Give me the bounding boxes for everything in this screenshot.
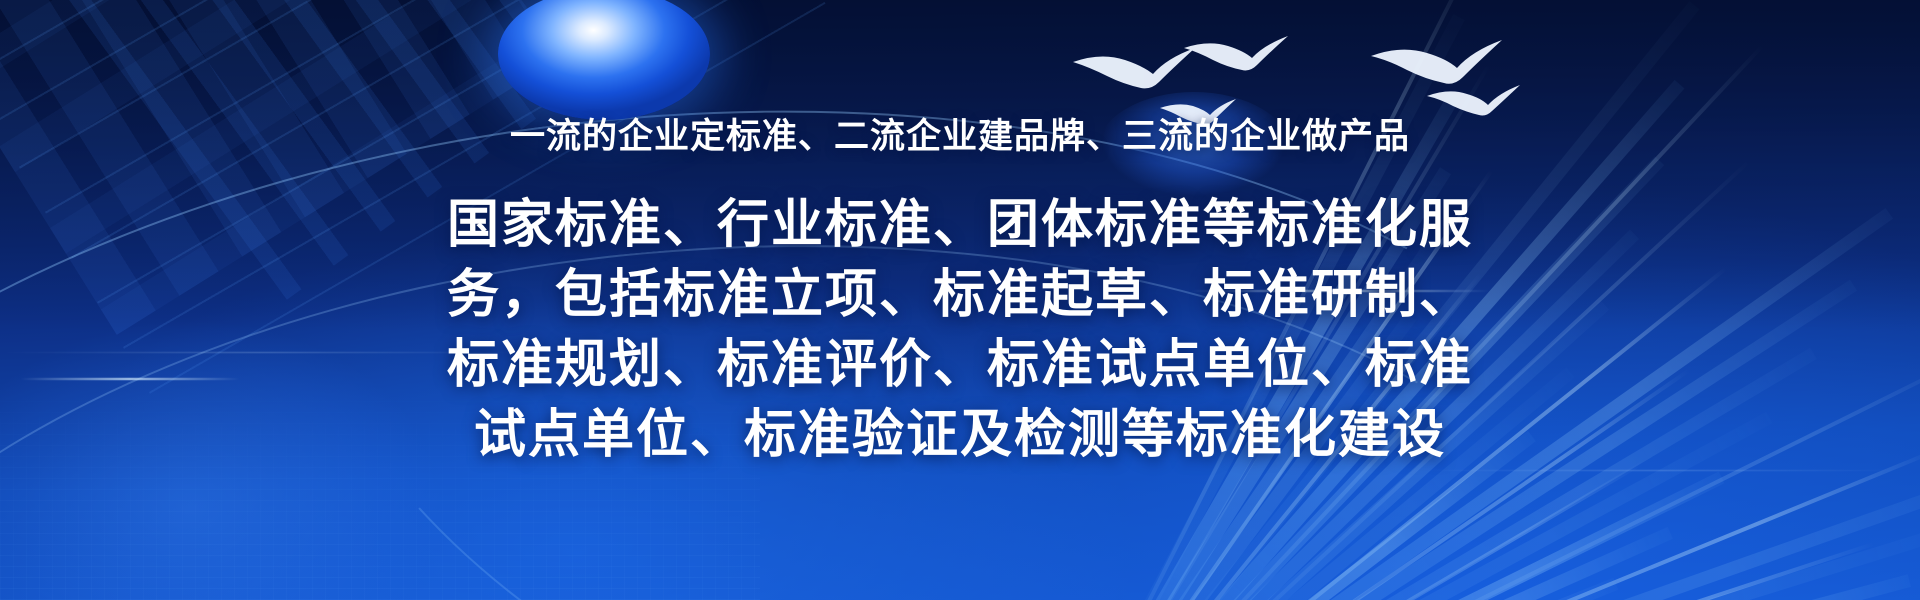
- body-line: 务，包括标准立项、标准起草、标准研制、: [310, 260, 1610, 330]
- body-line: 国家标准、行业标准、团体标准等标准化服: [310, 190, 1610, 260]
- promo-banner: 一流的企业定标准、二流企业建品牌、三流的企业做产品 国家标准、行业标准、团体标准…: [0, 0, 1920, 600]
- banner-body-copy: 国家标准、行业标准、团体标准等标准化服 务，包括标准立项、标准起草、标准研制、 …: [310, 190, 1610, 470]
- banner-headline: 一流的企业定标准、二流企业建品牌、三流的企业做产品: [0, 114, 1920, 160]
- seagull-icon: [1184, 36, 1288, 70]
- seagull-icon: [1427, 85, 1520, 116]
- body-line: 标准规划、标准评价、标准试点单位、标准: [310, 330, 1610, 400]
- seagull-icon: [1073, 48, 1195, 88]
- seagull-icon: [1371, 40, 1502, 84]
- body-line: 试点单位、标准验证及检测等标准化建设: [310, 400, 1610, 470]
